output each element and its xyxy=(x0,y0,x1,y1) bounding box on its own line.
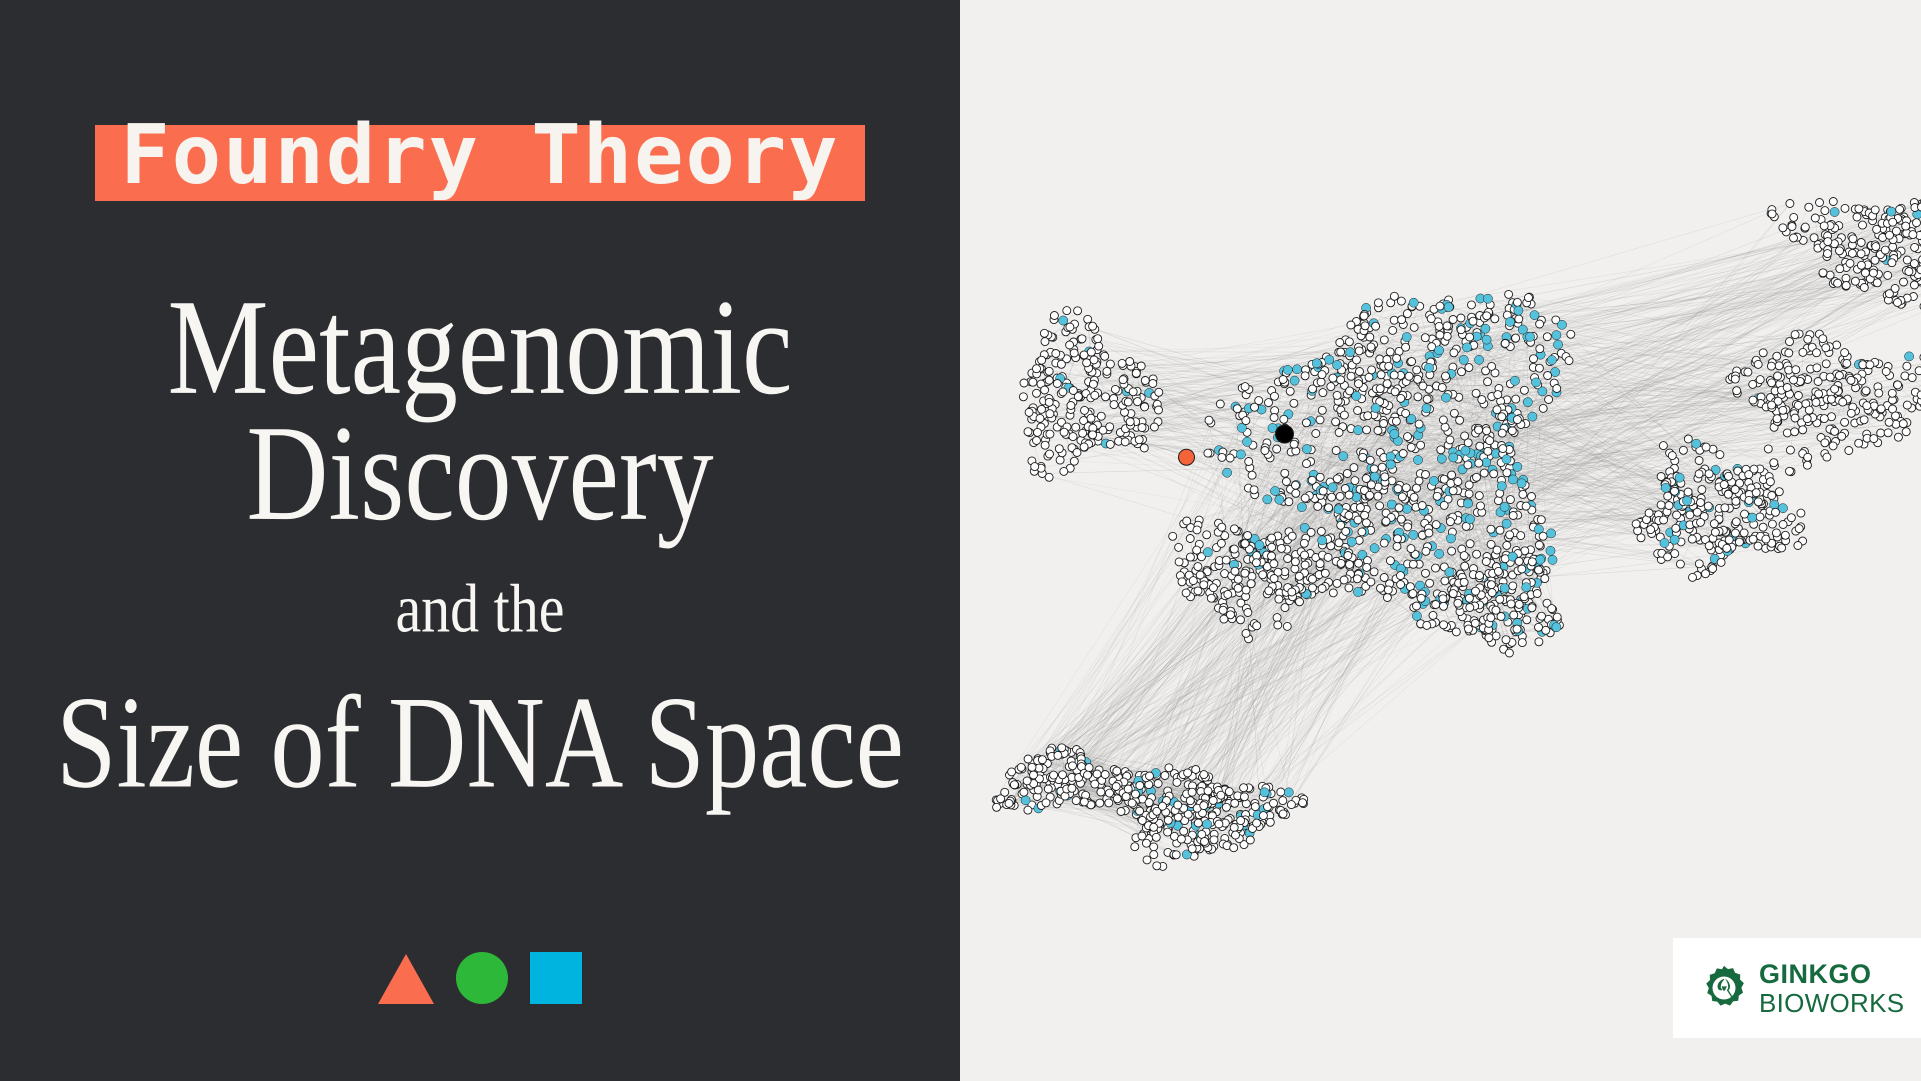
graph-node xyxy=(1544,372,1552,380)
graph-node xyxy=(1033,365,1041,373)
graph-node xyxy=(1253,819,1261,827)
graph-node xyxy=(1839,398,1847,406)
graph-node xyxy=(1055,445,1063,453)
graph-node xyxy=(1475,426,1483,434)
graph-node xyxy=(1472,587,1480,595)
graph-node xyxy=(1797,509,1805,517)
graph-node xyxy=(1851,277,1859,285)
graph-node xyxy=(1121,438,1129,446)
graph-node xyxy=(1446,518,1454,526)
graph-node xyxy=(1302,445,1311,454)
graph-node xyxy=(1445,568,1454,577)
graph-node xyxy=(1847,376,1855,384)
graph-node xyxy=(1437,454,1446,463)
graph-node xyxy=(1019,393,1027,401)
graph-node xyxy=(1494,391,1502,399)
graph-node xyxy=(1482,335,1491,344)
graph-node xyxy=(1218,453,1226,461)
graph-node xyxy=(1034,428,1042,436)
graph-node xyxy=(1374,492,1382,500)
graph-node xyxy=(1370,472,1379,481)
graph-node xyxy=(1460,578,1468,586)
graph-node xyxy=(1345,584,1353,592)
graph-node xyxy=(1353,587,1362,596)
graph-node xyxy=(1845,447,1853,455)
graph-node xyxy=(1209,584,1217,592)
graph-node xyxy=(1342,527,1350,535)
graph-node xyxy=(1354,426,1363,435)
graph-node xyxy=(1041,441,1049,449)
graph-node xyxy=(1149,380,1157,388)
graph-node xyxy=(1057,360,1065,368)
graph-node xyxy=(1446,534,1455,543)
graph-node xyxy=(1367,343,1375,351)
graph-node xyxy=(1301,561,1309,569)
graph-node xyxy=(1443,322,1451,330)
graph-node xyxy=(1877,405,1885,413)
graph-node xyxy=(1432,601,1440,609)
graph-node xyxy=(1720,481,1728,489)
graph-node xyxy=(1494,567,1502,575)
graph-node xyxy=(1417,441,1425,449)
graph-node xyxy=(1689,573,1697,581)
graph-node xyxy=(1774,372,1782,380)
graph-node xyxy=(1841,349,1849,357)
graph-node xyxy=(1164,816,1172,824)
title-block: Metagenomic Discovery and the Size of DN… xyxy=(0,282,960,788)
graph-node xyxy=(1754,498,1762,506)
graph-node xyxy=(1403,310,1411,318)
graph-node xyxy=(1847,409,1855,417)
graph-node xyxy=(1060,428,1068,436)
graph-node xyxy=(1204,787,1212,795)
graph-node xyxy=(1404,523,1412,531)
graph-node xyxy=(1128,799,1136,807)
graph-node xyxy=(1530,311,1539,320)
graph-node xyxy=(1360,312,1368,320)
graph-node xyxy=(1292,481,1300,489)
graph-node xyxy=(1779,224,1787,232)
graph-node xyxy=(1056,456,1064,464)
graph-node xyxy=(1836,265,1844,273)
graph-node xyxy=(1744,368,1752,376)
graph-node xyxy=(1409,590,1417,598)
graph-node xyxy=(1465,481,1473,489)
graph-node xyxy=(1429,611,1437,619)
graph-node xyxy=(1154,780,1162,788)
graph-node xyxy=(1752,489,1760,497)
graph-node xyxy=(1670,535,1679,544)
graph-node xyxy=(1788,223,1796,231)
graph-node xyxy=(1334,505,1343,514)
graph-node xyxy=(1270,575,1278,583)
graph-node xyxy=(1111,385,1119,393)
graph-node xyxy=(1362,519,1370,527)
graph-node xyxy=(1768,210,1776,218)
graph-node xyxy=(1768,492,1776,500)
graph-node xyxy=(1200,771,1208,779)
graph-node xyxy=(1645,509,1653,517)
graph-node xyxy=(1778,544,1786,552)
graph-node xyxy=(1820,415,1828,423)
graph-node xyxy=(1155,388,1163,396)
graph-node xyxy=(1230,545,1238,553)
graph-node xyxy=(1038,756,1046,764)
ginkgo-logo: GINKGO BIOWORKS xyxy=(1673,938,1921,1038)
graph-node xyxy=(1881,246,1889,254)
graph-node xyxy=(1790,234,1798,242)
graph-node xyxy=(1871,256,1879,264)
graph-node xyxy=(1523,398,1532,407)
graph-node xyxy=(1475,459,1483,467)
graph-node xyxy=(1347,537,1356,546)
graph-node xyxy=(1510,611,1518,619)
graph-node xyxy=(1410,493,1418,501)
graph-node xyxy=(1828,413,1836,421)
graph-node xyxy=(1219,606,1227,614)
graph-node xyxy=(1695,470,1703,478)
graph-node xyxy=(1106,440,1114,448)
graph-node xyxy=(1675,473,1684,482)
graph-node xyxy=(1252,559,1260,567)
graph-node xyxy=(1383,380,1391,388)
graph-node xyxy=(1485,634,1493,642)
graph-node xyxy=(1422,471,1430,479)
graph-node xyxy=(1328,493,1336,501)
graph-node xyxy=(1138,832,1146,840)
graph-node xyxy=(1010,781,1018,789)
graph-node xyxy=(1333,391,1341,399)
graph-node xyxy=(1433,492,1441,500)
graph-node xyxy=(1538,612,1546,620)
graph-node xyxy=(1538,387,1547,396)
graph-node xyxy=(1842,282,1850,290)
graph-node xyxy=(1150,843,1158,851)
graph-node xyxy=(1775,488,1783,496)
graph-node xyxy=(1857,239,1865,247)
graph-node xyxy=(1316,416,1324,424)
graph-node xyxy=(1487,581,1495,589)
graph-node xyxy=(1697,499,1705,507)
graph-node xyxy=(1422,404,1431,413)
graph-node xyxy=(1260,788,1269,797)
graph-node xyxy=(1391,388,1399,396)
graph-node xyxy=(1291,558,1299,566)
graph-node xyxy=(1465,515,1474,524)
graph-node xyxy=(1033,389,1041,397)
graph-node xyxy=(1805,203,1813,211)
graph-node xyxy=(1309,385,1317,393)
graph-node xyxy=(1050,312,1058,320)
graph-node xyxy=(1905,268,1913,276)
graph-node xyxy=(1528,412,1537,421)
graph-node xyxy=(1203,548,1212,557)
graph-node xyxy=(1005,799,1013,807)
graph-node xyxy=(1285,498,1293,506)
graph-node xyxy=(1449,316,1457,324)
graph-node xyxy=(1399,450,1407,458)
graph-node xyxy=(1089,431,1097,439)
graph-node xyxy=(1473,473,1481,481)
graph-node xyxy=(1459,355,1468,364)
graph-node xyxy=(1293,365,1302,374)
graph-node xyxy=(1786,200,1794,208)
graph-node xyxy=(1884,271,1892,279)
graph-node xyxy=(1290,399,1298,407)
graph-node xyxy=(1301,551,1309,559)
graph-node xyxy=(1146,772,1154,780)
graph-node xyxy=(1804,335,1812,343)
graph-node xyxy=(1353,575,1361,583)
graph-node xyxy=(1754,542,1762,550)
graph-node xyxy=(1122,793,1130,801)
square-icon xyxy=(530,952,582,1004)
graph-node xyxy=(1091,391,1099,399)
graph-node xyxy=(1397,394,1405,402)
graph-node xyxy=(1448,471,1456,479)
graph-node xyxy=(1045,367,1053,375)
graph-node xyxy=(1333,475,1341,483)
graph-node xyxy=(1548,605,1556,613)
graph-node xyxy=(1823,453,1831,461)
graph-node xyxy=(1464,461,1472,469)
graph-node xyxy=(1522,583,1531,592)
graph-node xyxy=(1079,429,1087,437)
graph-node xyxy=(1155,406,1163,414)
graph-node xyxy=(1491,315,1499,323)
graph-node xyxy=(1505,290,1513,298)
graph-node xyxy=(1775,362,1783,370)
graph-node xyxy=(1536,345,1544,353)
graph-node xyxy=(1820,222,1828,230)
graph-node xyxy=(1204,449,1212,457)
graph-node xyxy=(1230,844,1238,852)
graph-node xyxy=(1189,577,1197,585)
graph-node xyxy=(1497,482,1506,491)
graph-node xyxy=(1287,801,1295,809)
graph-node xyxy=(1506,496,1514,504)
graph-node xyxy=(1731,529,1739,537)
graph-node xyxy=(1759,349,1767,357)
graph-node xyxy=(1476,442,1484,450)
graph-node xyxy=(1129,388,1137,396)
graph-node xyxy=(1069,433,1077,441)
graph-node xyxy=(1169,532,1177,540)
graph-node xyxy=(1836,247,1844,255)
graph-node xyxy=(1405,372,1413,380)
graph-node xyxy=(1137,362,1145,370)
graph-node xyxy=(1244,532,1252,540)
graph-node xyxy=(1237,616,1245,624)
graph-node xyxy=(1393,354,1401,362)
graph-node xyxy=(1200,581,1208,589)
graph-node xyxy=(1439,416,1447,424)
graph-node xyxy=(1413,484,1421,492)
graph-node xyxy=(1899,420,1907,428)
graph-node xyxy=(1413,455,1422,464)
graph-node xyxy=(1443,332,1451,340)
graph-node xyxy=(1469,317,1477,325)
page-title-connector: and the xyxy=(0,568,960,651)
graph-node xyxy=(1882,368,1890,376)
graph-node xyxy=(1273,445,1281,453)
logo-word-bioworks: BIOWORKS xyxy=(1759,990,1904,1016)
graph-node xyxy=(1483,312,1491,320)
graph-node xyxy=(1336,492,1344,500)
graph-node xyxy=(1546,546,1555,555)
graph-node xyxy=(1033,437,1041,445)
graph-node xyxy=(1225,788,1233,796)
graph-node xyxy=(1392,417,1400,425)
graph-node xyxy=(1240,784,1248,792)
graph-node xyxy=(1366,456,1374,464)
logo-word-ginkgo: GINKGO xyxy=(1759,961,1904,988)
graph-node xyxy=(1368,366,1376,374)
page-title-line-3: Size of DNA Space xyxy=(14,678,945,808)
foundry-theory-badge-label: Foundry Theory xyxy=(95,96,865,216)
graph-node xyxy=(1042,799,1050,807)
graph-node xyxy=(1194,587,1202,595)
graph-node xyxy=(1397,297,1405,305)
graph-node xyxy=(1427,315,1435,323)
graph-node xyxy=(1302,419,1310,427)
graph-node xyxy=(1461,446,1470,455)
graph-node xyxy=(1318,406,1326,414)
graph-node xyxy=(1193,526,1201,534)
graph-node xyxy=(1657,501,1665,509)
graph-node xyxy=(1390,429,1399,438)
graph-node xyxy=(1465,594,1473,602)
graph-node xyxy=(1397,581,1405,589)
graph-node xyxy=(1530,355,1538,363)
graph-node xyxy=(1741,510,1749,518)
graph-node xyxy=(1132,369,1140,377)
graph-node xyxy=(1284,555,1292,563)
graph-node xyxy=(1251,803,1259,811)
graph-node xyxy=(1679,446,1687,454)
graph-node xyxy=(1380,420,1388,428)
graph-node xyxy=(1692,439,1701,448)
graph-node xyxy=(1528,604,1536,612)
graph-node xyxy=(1058,744,1066,752)
graph-node xyxy=(1150,423,1158,431)
graph-node xyxy=(1525,294,1533,302)
graph-node xyxy=(1141,377,1149,385)
graph-node xyxy=(1173,778,1181,786)
graph-node xyxy=(1792,366,1800,374)
graph-node xyxy=(1041,338,1049,346)
graph-node xyxy=(1855,205,1863,213)
graph-node xyxy=(1362,475,1370,483)
graph-node xyxy=(1389,326,1397,334)
graph-node xyxy=(1182,589,1190,597)
graph-node xyxy=(1436,302,1444,310)
graph-node xyxy=(1141,403,1149,411)
graph-node xyxy=(1296,598,1304,606)
graph-node xyxy=(1509,582,1517,590)
graph-node xyxy=(1041,386,1049,394)
graph-node xyxy=(1794,542,1802,550)
graph-node xyxy=(1448,547,1456,555)
graph-node xyxy=(1794,392,1802,400)
graph-node xyxy=(1333,360,1342,369)
graph-node xyxy=(1552,331,1561,340)
graph-node xyxy=(1124,398,1132,406)
graph-node xyxy=(1410,323,1418,331)
graph-node xyxy=(1138,424,1146,432)
graph-node xyxy=(1413,366,1421,374)
graph-node xyxy=(1045,473,1053,481)
graph-node xyxy=(1261,447,1269,455)
graph-node xyxy=(1490,470,1498,478)
graph-node xyxy=(1207,594,1215,602)
graph-node xyxy=(1733,387,1741,395)
graph-node xyxy=(1432,564,1440,572)
graph-node xyxy=(1266,818,1274,826)
graph-node xyxy=(1270,560,1278,568)
graph-node xyxy=(1270,799,1278,807)
graph-node xyxy=(1508,475,1517,484)
poster-canvas: Foundry Theory Metagenomic Discovery and… xyxy=(0,0,1921,1081)
graph-node xyxy=(1193,546,1201,554)
graph-node xyxy=(1896,205,1904,213)
graph-node xyxy=(1859,221,1867,229)
graph-node xyxy=(1222,556,1230,564)
graph-node xyxy=(1426,579,1434,587)
graph-node xyxy=(1482,558,1490,566)
graph-node xyxy=(1402,484,1410,492)
graph-node xyxy=(1336,339,1344,347)
graph-node xyxy=(1222,803,1230,811)
graph-node xyxy=(1106,360,1114,368)
graph-node xyxy=(1059,316,1068,325)
graph-node xyxy=(1329,589,1337,597)
graph-node xyxy=(1702,443,1710,451)
graph-node xyxy=(1281,604,1289,612)
graph-node xyxy=(1528,558,1536,566)
graph-node xyxy=(1364,412,1372,420)
graph-node xyxy=(1402,409,1410,417)
graph-node xyxy=(1506,531,1514,539)
graph-node xyxy=(1647,526,1655,534)
graph-node xyxy=(1795,525,1803,533)
graph-node xyxy=(1124,785,1132,793)
graph-node xyxy=(1046,410,1054,418)
graph-node xyxy=(1347,372,1355,380)
graph-node xyxy=(1862,387,1870,395)
graph-node xyxy=(1843,359,1851,367)
graph-node xyxy=(1282,478,1290,486)
graph-node xyxy=(1429,476,1438,485)
graph-node xyxy=(1515,315,1523,323)
graph-node xyxy=(1236,450,1245,459)
graph-node xyxy=(1271,486,1280,495)
graph-node xyxy=(1175,558,1183,566)
graph-node xyxy=(1506,317,1515,326)
graph-node xyxy=(1450,349,1458,357)
graph-node xyxy=(1080,798,1088,806)
graph-node xyxy=(1748,513,1757,522)
graph-node xyxy=(1695,560,1703,568)
page-title-line-2: Discovery xyxy=(10,408,951,540)
graph-node xyxy=(1749,396,1757,404)
graph-node xyxy=(1067,402,1075,410)
graph-node xyxy=(1567,330,1575,338)
graph-node xyxy=(1188,845,1196,853)
graph-node xyxy=(1335,429,1343,437)
graph-node xyxy=(1288,588,1296,596)
graph-node xyxy=(1317,378,1325,386)
